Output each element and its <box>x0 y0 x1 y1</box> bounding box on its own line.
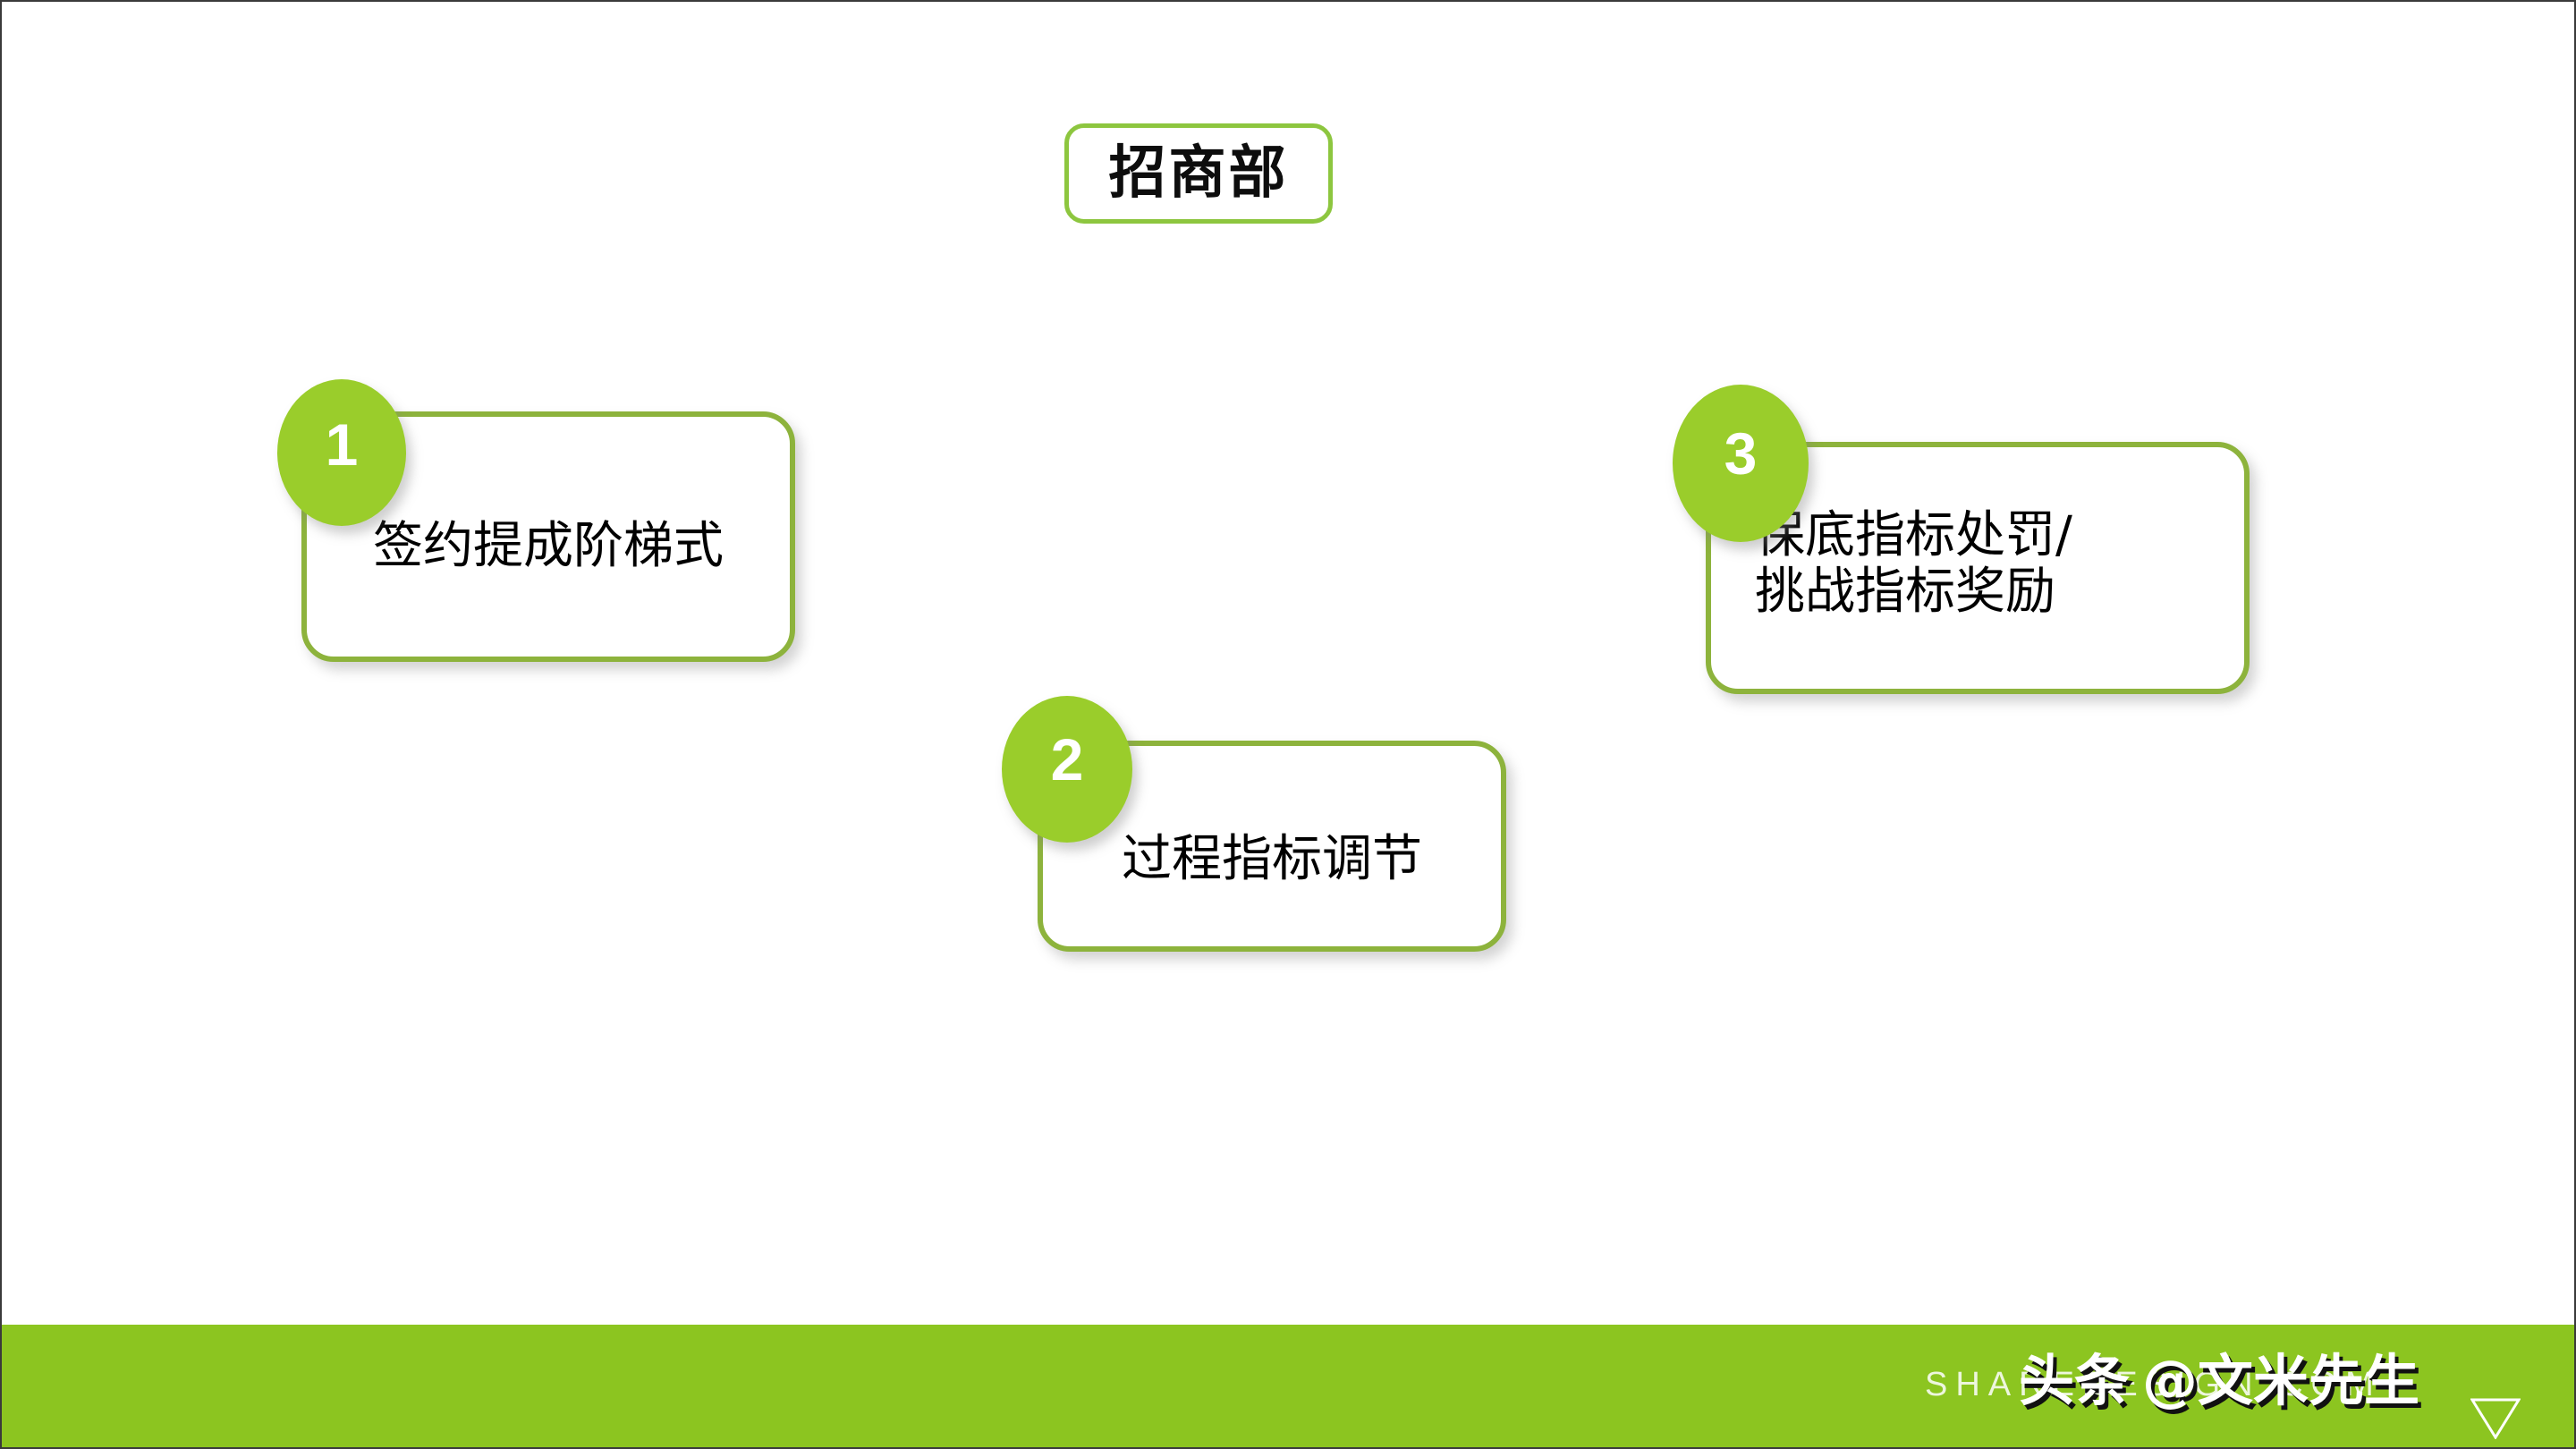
step-card-3-label: 保底指标处罚/ 挑战指标奖励 <box>1755 508 2238 620</box>
step-card-1-label: 签约提成阶梯式 <box>319 519 777 575</box>
page-title: 招商部 <box>1109 145 1289 202</box>
watermark-handle: @文米先生 <box>2142 1348 2419 1413</box>
step-badge-2: 2 <box>1002 696 1132 843</box>
step-card-2-label: 过程指标调节 <box>1055 832 1488 888</box>
step-badge-3: 3 <box>1673 385 1809 542</box>
page-title-box: 招商部 <box>1064 123 1333 224</box>
step-badge-1: 1 <box>277 379 406 526</box>
footer-bar: SHAREDESIGN.COM 头条@文米先生 <box>2 1325 2574 1447</box>
check-badge-icon <box>2470 1398 2521 1439</box>
watermark-logo: 头条 <box>2019 1348 2130 1413</box>
step-badge-3-number: 3 <box>1724 424 1758 483</box>
step-badge-1-number: 1 <box>326 415 359 474</box>
watermark: 头条@文米先生 <box>2019 1335 2419 1416</box>
step-badge-2-number: 2 <box>1051 730 1084 789</box>
slide-canvas: 招商部 1 签约提成阶梯式 2 过程指标调节 3 保底指标处罚/ 挑战指标奖励 … <box>0 0 2576 1449</box>
